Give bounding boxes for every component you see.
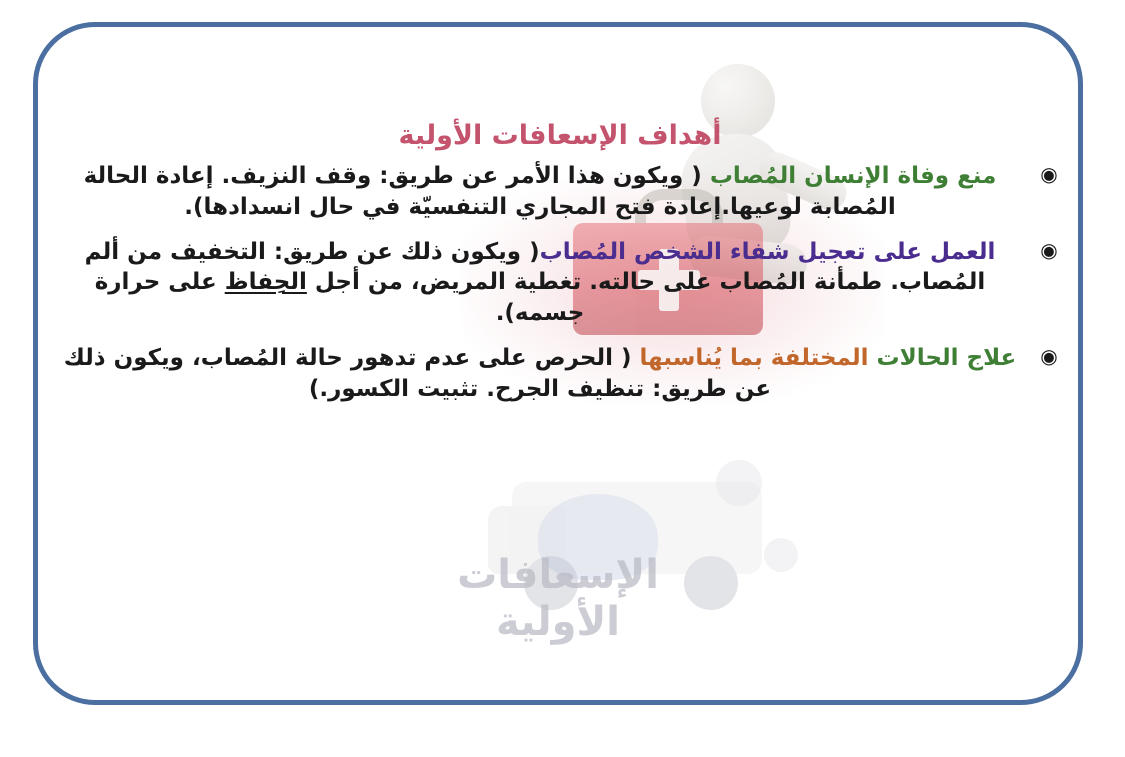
bullet-marker-icon: ◉ xyxy=(1038,239,1060,261)
bullet-highlight: العمل على تعجيل شفاء الشخص المُصاب xyxy=(540,239,996,265)
decorative-circle xyxy=(716,460,762,506)
bullet-marker-icon: ◉ xyxy=(1038,163,1060,185)
bullet-highlight: منع وفاة الإنسان المُصاب xyxy=(710,163,997,189)
bullet-highlight-primary: علاج الحالات xyxy=(877,345,1017,371)
bullet-highlight-secondary: المختلفة بما يُناسبها xyxy=(640,345,877,371)
slide-canvas: الإسعافات الأولية أهداف الإسعافات الأولي… xyxy=(0,0,1125,757)
page-title: أهداف الإسعافات الأولية xyxy=(60,120,1060,151)
bullet-text: منع وفاة الإنسان المُصاب ( ويكون هذا الأ… xyxy=(60,161,1020,223)
bullet-text: العمل على تعجيل شفاء الشخص المُصاب( ويكو… xyxy=(60,237,1020,329)
list-item: ◉ منع وفاة الإنسان المُصاب ( ويكون هذا ا… xyxy=(60,161,1060,223)
list-item: ◉ علاج الحالات المختلفة بما يُناسبها ( ا… xyxy=(60,343,1060,405)
objectives-list: ◉ منع وفاة الإنسان المُصاب ( ويكون هذا ا… xyxy=(60,161,1060,405)
bullet-marker-icon: ◉ xyxy=(1038,345,1060,367)
list-item: ◉ العمل على تعجيل شفاء الشخص المُصاب( وي… xyxy=(60,237,1060,329)
watermark-text: الإسعافات الأولية xyxy=(33,552,1083,646)
content-area: أهداف الإسعافات الأولية ◉ منع وفاة الإنس… xyxy=(60,120,1060,419)
bullet-underlined-word: الحِفاظ xyxy=(225,269,307,295)
bullet-text: علاج الحالات المختلفة بما يُناسبها ( الح… xyxy=(60,343,1020,405)
